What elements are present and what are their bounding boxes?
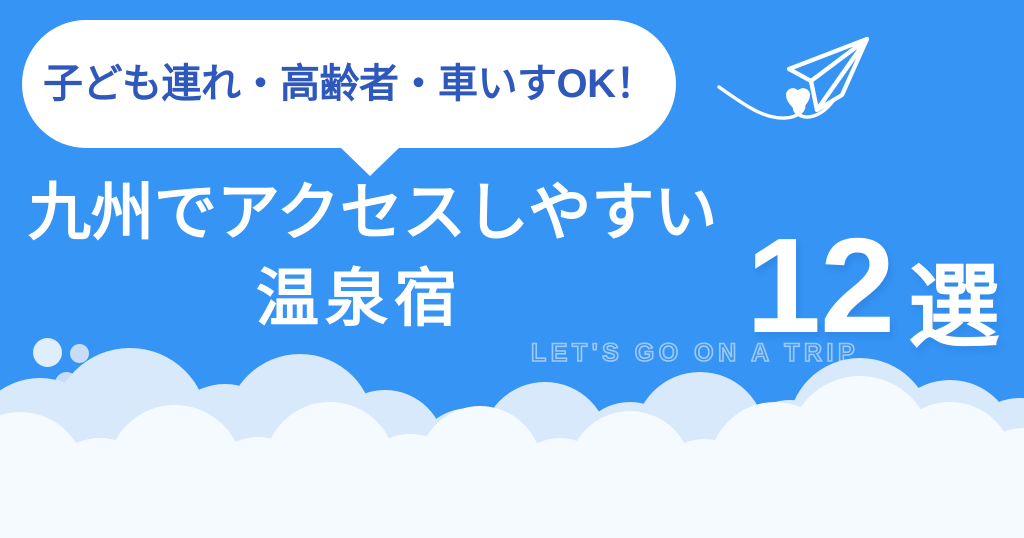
promo-banner: 子ども連れ・高齢者・車いすOK！ 九州でアクセスしやすい 温泉宿 LET'S G… [0, 0, 1024, 538]
speech-bubble-text: 子ども連れ・高齢者・車いすOK！ [43, 64, 655, 104]
title-line-1: 九州でアクセスしやすい [28, 182, 717, 245]
heart-icon [787, 89, 809, 111]
paper-plane-icon [705, 25, 905, 145]
speech-bubble-body: 子ども連れ・高齢者・車いすOK！ [22, 20, 676, 148]
speech-bubble-tail [340, 147, 400, 176]
cloud-decoration [0, 318, 1024, 538]
speech-bubble: 子ども連れ・高齢者・車いすOK！ [22, 20, 676, 148]
